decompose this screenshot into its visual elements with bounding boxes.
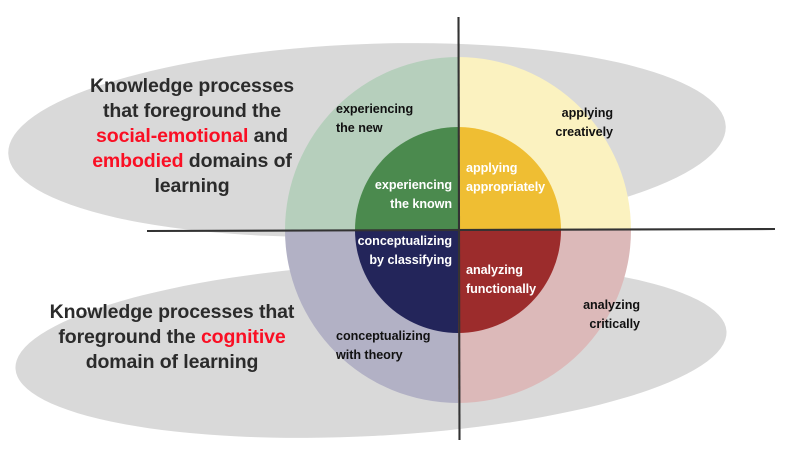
label-applying-appropriately: applying appropriately	[466, 159, 545, 197]
callout-bottom-highlight-cognitive: cognitive	[201, 326, 286, 348]
callout-top-line5: learning	[154, 175, 229, 197]
label-experiencing-the-new: experiencing the new	[336, 100, 413, 138]
label-conceptualizing-with-theory: conceptualizing with theory	[336, 327, 430, 365]
label-conceptualizing-with-theory-line1: conceptualizing	[336, 329, 430, 343]
label-analyzing-critically-line2: critically	[536, 315, 640, 334]
label-analyzing-critically: analyzing critically	[536, 296, 640, 334]
callout-cognitive-label: Knowledge processes that foreground the …	[22, 300, 322, 375]
label-experiencing-the-known: experiencing the known	[352, 176, 452, 214]
label-conceptualizing-by-classifying-line2: by classifying	[348, 251, 452, 270]
label-experiencing-the-known-line1: experiencing	[375, 178, 452, 192]
label-applying-appropriately-line1: applying	[466, 161, 517, 175]
diagram-svg	[0, 0, 800, 453]
vertical-axis	[459, 17, 460, 440]
callout-top-line3-post: and	[248, 125, 288, 147]
label-applying-creatively: applying creatively	[509, 104, 613, 142]
label-conceptualizing-with-theory-line2: with theory	[336, 346, 430, 365]
label-applying-creatively-line2: creatively	[509, 123, 613, 142]
callout-bottom-line1: Knowledge processes that	[50, 301, 295, 323]
callout-top-highlight-embodied: embodied	[92, 150, 183, 172]
callout-bottom-line3: domain of learning	[86, 351, 259, 373]
label-analyzing-critically-line1: analyzing	[583, 298, 640, 312]
label-analyzing-functionally: analyzing functionally	[466, 261, 536, 299]
callout-top-highlight-social-emotional: social-emotional	[96, 125, 248, 147]
callout-top-line4-post: domains of	[183, 150, 291, 172]
label-applying-creatively-line1: applying	[562, 106, 613, 120]
label-experiencing-the-new-line1: experiencing	[336, 102, 413, 116]
diagram-canvas: Knowledge processes that foreground the …	[0, 0, 800, 453]
callout-top-line1: Knowledge processes	[90, 75, 294, 97]
label-analyzing-functionally-line2: functionally	[466, 280, 536, 299]
label-experiencing-the-known-line2: the known	[352, 195, 452, 214]
callout-bottom-line2-pre: foreground the	[58, 326, 201, 348]
label-conceptualizing-by-classifying: conceptualizing by classifying	[348, 232, 452, 270]
label-conceptualizing-by-classifying-line1: conceptualizing	[358, 234, 452, 248]
callout-social-emotional-label: Knowledge processes that foreground the …	[52, 74, 332, 199]
label-applying-appropriately-line2: appropriately	[466, 178, 545, 197]
callout-top-line2: that foreground the	[103, 100, 281, 122]
label-experiencing-the-new-line2: the new	[336, 119, 413, 138]
label-analyzing-functionally-line1: analyzing	[466, 263, 523, 277]
